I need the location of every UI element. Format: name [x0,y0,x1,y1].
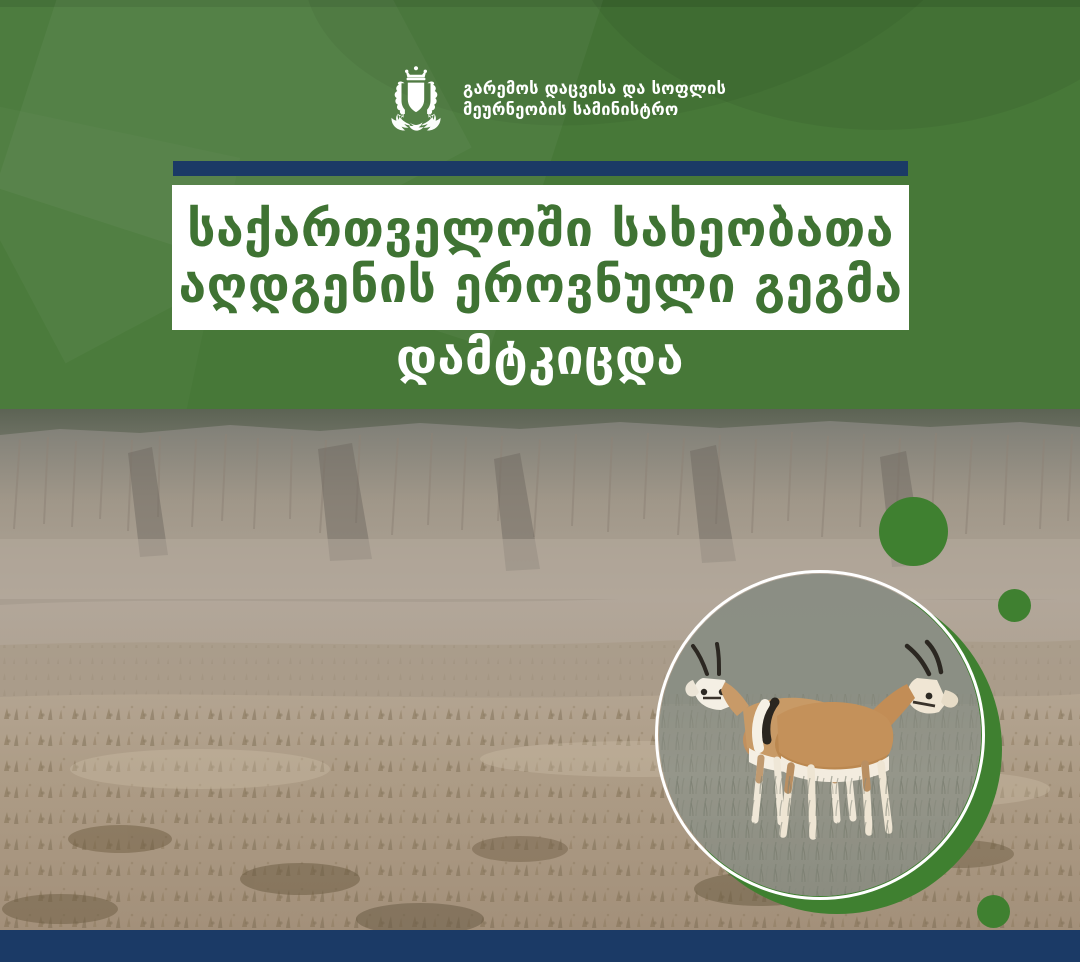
inset-white-ring [655,570,985,900]
decor-circle-small [998,589,1031,622]
footer-bar [0,930,1080,962]
decor-circle-large [879,497,948,566]
page-title-line-1: საქართველოში სახეობათა [187,204,894,256]
decor-circle-tiny [977,895,1010,928]
ministry-lockup: გარემოს დაცვისა და სოფლის მეურნეობის სამ… [383,64,726,134]
georgia-coat-of-arms-icon [383,64,449,134]
title-card: საქართველოში სახეობათა აღდგენის ეროვნული… [172,185,909,330]
header-top-edge [0,0,1080,7]
page-title-line-2: აღდგენის ეროვნული გეგმა [178,260,902,312]
ministry-name: გარემოს დაცვისა და სოფლის მეურნეობის სამ… [463,78,726,120]
poster-root: გარემოს დაცვისა და სოფლის მეურნეობის სამ… [0,0,1080,962]
page-subtitle: დამტკიცდა [0,333,1080,382]
title-accent-rule [173,161,908,176]
